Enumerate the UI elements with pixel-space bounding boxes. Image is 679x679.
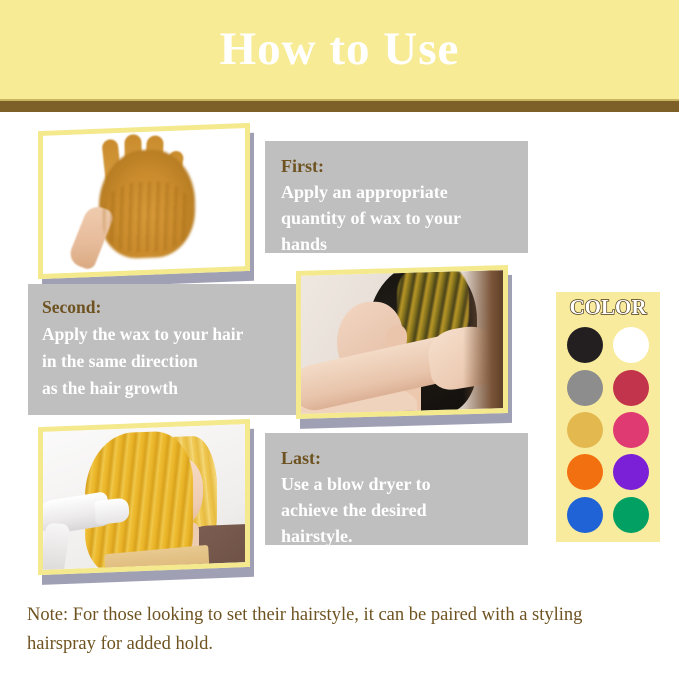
- usage-note: Note: For those looking to set their hai…: [27, 601, 647, 659]
- step-2-text-panel: Second: Apply the wax to your hair in th…: [28, 284, 298, 415]
- header-divider-bar: [0, 101, 679, 112]
- photo-frame: [38, 419, 250, 575]
- step-3-label: Last:: [281, 445, 512, 471]
- step-2-label: Second:: [42, 294, 284, 321]
- blow-drying-hair-image: [43, 424, 245, 570]
- step-3-photo: [38, 419, 250, 575]
- color-swatch-purple[interactable]: [613, 454, 649, 490]
- color-swatch-blue[interactable]: [567, 497, 603, 533]
- color-swatch-orange[interactable]: [567, 454, 603, 490]
- color-swatch-gold[interactable]: [567, 412, 603, 448]
- photo-frame: [296, 265, 508, 419]
- step-3-body: Use a blow dryer to achieve the desired …: [281, 471, 512, 549]
- color-swatch-green[interactable]: [613, 497, 649, 533]
- edge-shading: [463, 270, 503, 414]
- color-swatch-panel: COLOR: [556, 292, 660, 542]
- color-swatch-gray[interactable]: [567, 370, 603, 406]
- step-2-photo: [296, 265, 508, 419]
- step-2-body: Apply the wax to your hair in the same d…: [42, 321, 284, 402]
- hand-with-wax-image: [43, 128, 245, 274]
- step-1-label: First:: [281, 153, 512, 179]
- color-swatch-pink[interactable]: [613, 412, 649, 448]
- step-1-text-panel: First: Apply an appropriate quantity of …: [265, 141, 528, 253]
- step-3-text-panel: Last: Use a blow dryer to achieve the de…: [265, 433, 528, 545]
- color-swatch-white[interactable]: [613, 327, 649, 363]
- how-to-use-infographic: How to Use First: Apply an appropriate q…: [0, 0, 679, 679]
- color-panel-title: COLOR: [556, 295, 660, 320]
- applying-wax-to-hair-image: [301, 270, 503, 414]
- color-swatch-grid: [564, 325, 652, 535]
- wax-texture: [103, 180, 191, 253]
- step-1-body: Apply an appropriate quantity of wax to …: [281, 179, 512, 257]
- page-title: How to Use: [0, 18, 679, 80]
- color-swatch-black[interactable]: [567, 327, 603, 363]
- photo-frame: [38, 123, 250, 279]
- color-swatch-crimson[interactable]: [613, 370, 649, 406]
- step-1-photo: [38, 123, 250, 279]
